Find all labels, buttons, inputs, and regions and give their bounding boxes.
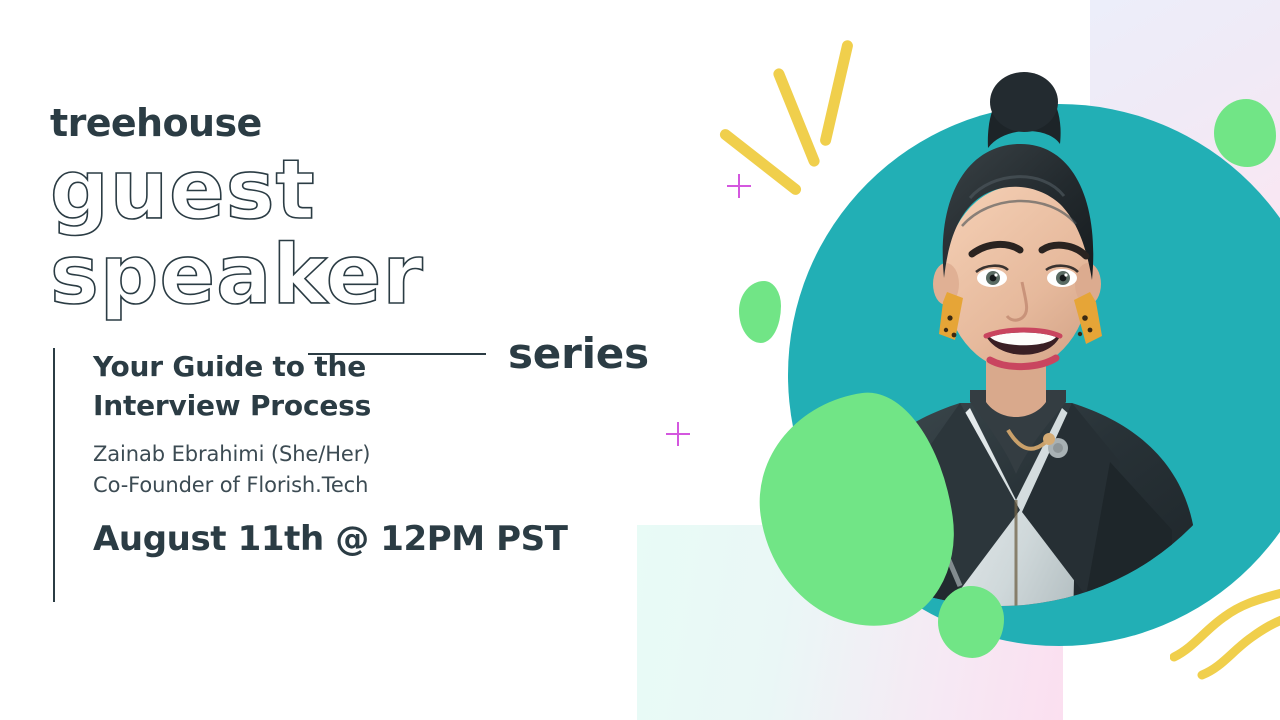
event-details: Your Guide to the Interview Process Zain… bbox=[53, 348, 568, 602]
plus-mark-icon bbox=[727, 174, 751, 198]
yellow-wave-strokes bbox=[1170, 575, 1280, 680]
green-blob-left-small bbox=[739, 281, 781, 343]
talk-title-line2: Interview Process bbox=[93, 387, 568, 426]
speaker-name: Zainab Ebrahimi (She/Her) bbox=[93, 439, 568, 469]
green-blob-bottom bbox=[938, 586, 1004, 658]
speaker-role: Co-Founder of Florish.Tech bbox=[93, 470, 568, 500]
brand-name: treehouse bbox=[50, 104, 650, 142]
program-title: guest speaker bbox=[50, 148, 650, 319]
headline-block: treehouse guest speaker series bbox=[50, 104, 650, 375]
promo-slide: treehouse guest speaker series Your Guid… bbox=[0, 0, 1280, 720]
talk-title-line1: Your Guide to the bbox=[93, 348, 568, 387]
plus-mark-icon bbox=[666, 422, 690, 446]
event-datetime: August 11th @ 12PM PST bbox=[93, 522, 568, 556]
